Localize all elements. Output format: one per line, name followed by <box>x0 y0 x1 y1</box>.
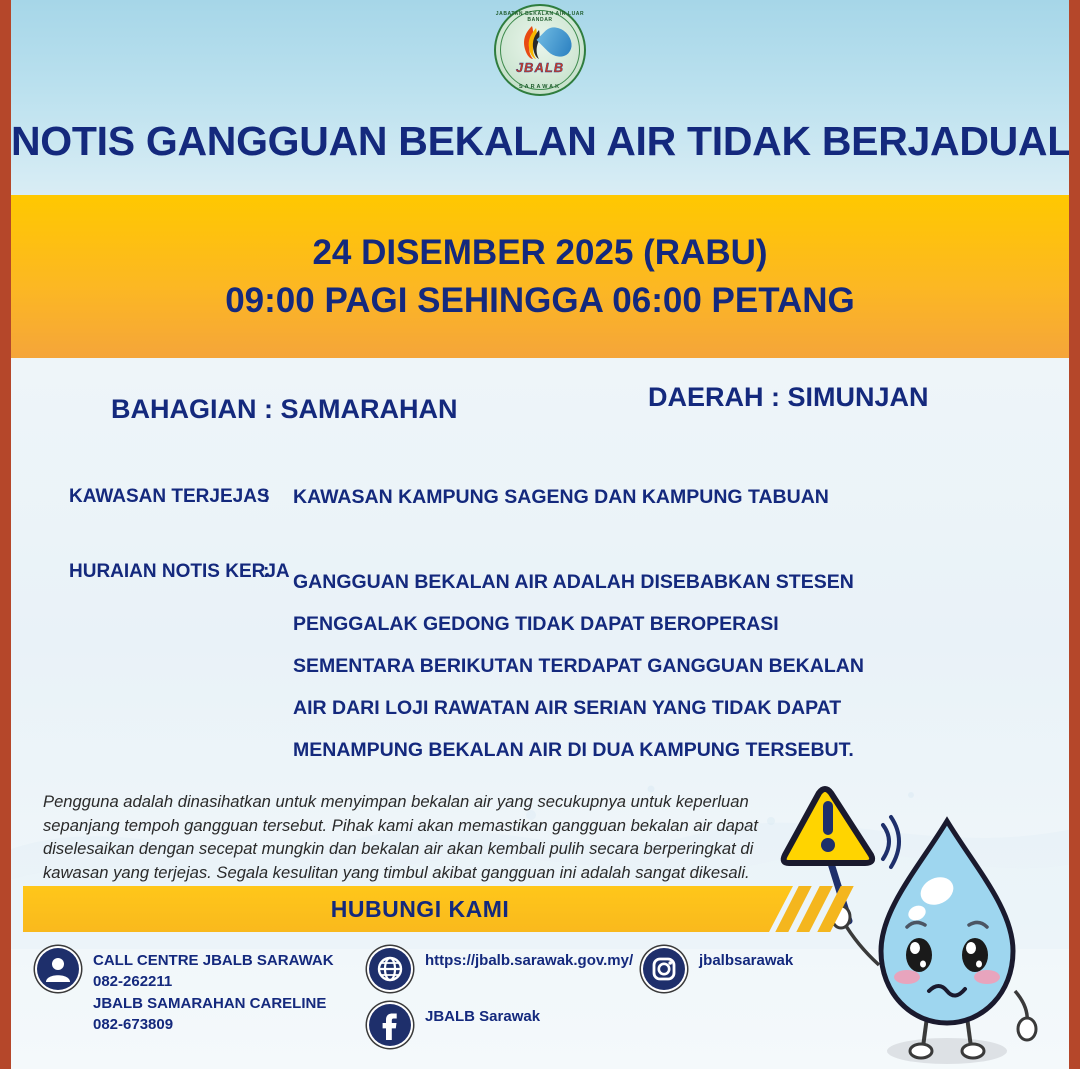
work-description-colon: : <box>263 561 293 583</box>
logo-ring-top-text: JABATAN BEKALAN AIR LUAR BANDAR <box>494 11 586 23</box>
call-centre-line: JBALB SAMARAHAN CARELINE <box>93 993 334 1014</box>
district-label: DAERAH : SIMUNJAN <box>648 382 929 413</box>
call-centre-text: CALL CENTRE JBALB SARAWAK 082-262211 JBA… <box>93 948 334 1035</box>
work-description-line: PENGGALAK GEDONG TIDAK DAPAT BEROPERASI <box>293 603 864 645</box>
call-centre-line: CALL CENTRE JBALB SARAWAK <box>93 950 334 971</box>
work-description-line: SEMENTARA BERIKUTAN TERDAPAT GANGGUAN BE… <box>293 645 864 687</box>
page-title: NOTIS GANGGUAN BEKALAN AIR TIDAK BERJADU… <box>11 118 1069 165</box>
contact-bar-wrap: HUBUNGI KAMI <box>11 886 1069 934</box>
contact-instagram[interactable]: jbalbsarawak <box>643 948 793 990</box>
work-description-line: GANGGUAN BEKALAN AIR ADALAH DISEBABKAN S… <box>293 561 864 603</box>
instagram-handle: jbalbsarawak <box>699 948 793 971</box>
logo-ring-bottom-text: SARAWAK <box>494 84 586 90</box>
jbalb-logo: JABATAN BEKALAN AIR LUAR BANDAR JBALB SA… <box>494 4 586 96</box>
work-description-line: MENAMPUNG BEKALAN AIR DI DUA KAMPUNG TER… <box>293 729 864 771</box>
location-row: BAHAGIAN : SAMARAHAN DAERAH : SIMUNJAN <box>11 394 1069 434</box>
contact-facebook[interactable]: JBALB Sarawak <box>369 1004 540 1046</box>
work-description-line: AIR DARI LOJI RAWATAN AIR SERIAN YANG TI… <box>293 687 864 729</box>
notice-body: BAHAGIAN : SAMARAHAN DAERAH : SIMUNJAN K… <box>11 358 1069 1069</box>
affected-area-field: KAWASAN TERJEJAS : KAWASAN KAMPUNG SAGEN… <box>11 486 1069 509</box>
facebook-icon <box>369 1004 411 1046</box>
contact-section-title: HUBUNGI KAMI <box>307 896 510 923</box>
contact-bar: HUBUNGI KAMI <box>23 886 793 932</box>
date-time-banner: 24 DISEMBER 2025 (RABU) 09:00 PAGI SEHIN… <box>11 195 1069 358</box>
logo-wordmark: JBALB <box>494 60 586 75</box>
facebook-handle: JBALB Sarawak <box>425 1004 540 1027</box>
poster-header: JABATAN BEKALAN AIR LUAR BANDAR JBALB SA… <box>11 0 1069 195</box>
notice-date: 24 DISEMBER 2025 (RABU) <box>312 232 767 273</box>
contact-website[interactable]: https://jbalb.sarawak.gov.my/ <box>369 948 633 990</box>
contact-call-centre[interactable]: CALL CENTRE JBALB SARAWAK 082-262211 JBA… <box>37 948 334 1035</box>
advisory-paragraph: Pengguna adalah dinasihatkan untuk menyi… <box>43 790 779 884</box>
work-description-value: GANGGUAN BEKALAN AIR ADALAH DISEBABKAN S… <box>293 561 864 771</box>
notice-time-range: 09:00 PAGI SEHINGGA 06:00 PETANG <box>225 280 855 321</box>
person-icon <box>37 948 79 990</box>
contact-list: CALL CENTRE JBALB SARAWAK 082-262211 JBA… <box>11 948 1069 1063</box>
notice-poster: JABATAN BEKALAN AIR LUAR BANDAR JBALB SA… <box>0 0 1080 1069</box>
affected-area-label: KAWASAN TERJEJAS <box>11 486 263 508</box>
work-description-field: HURAIAN NOTIS KERJA : GANGGUAN BEKALAN A… <box>11 561 1069 771</box>
globe-icon <box>369 948 411 990</box>
affected-area-colon: : <box>263 486 293 508</box>
division-label: BAHAGIAN : SAMARAHAN <box>111 394 457 425</box>
call-centre-line: 082-673809 <box>93 1014 334 1035</box>
website-url: https://jbalb.sarawak.gov.my/ <box>425 948 633 971</box>
affected-area-value: KAWASAN KAMPUNG SAGENG DAN KAMPUNG TABUA… <box>293 486 829 509</box>
instagram-icon <box>643 948 685 990</box>
call-centre-line: 082-262211 <box>93 971 334 992</box>
work-description-label: HURAIAN NOTIS KERJA <box>11 561 263 583</box>
